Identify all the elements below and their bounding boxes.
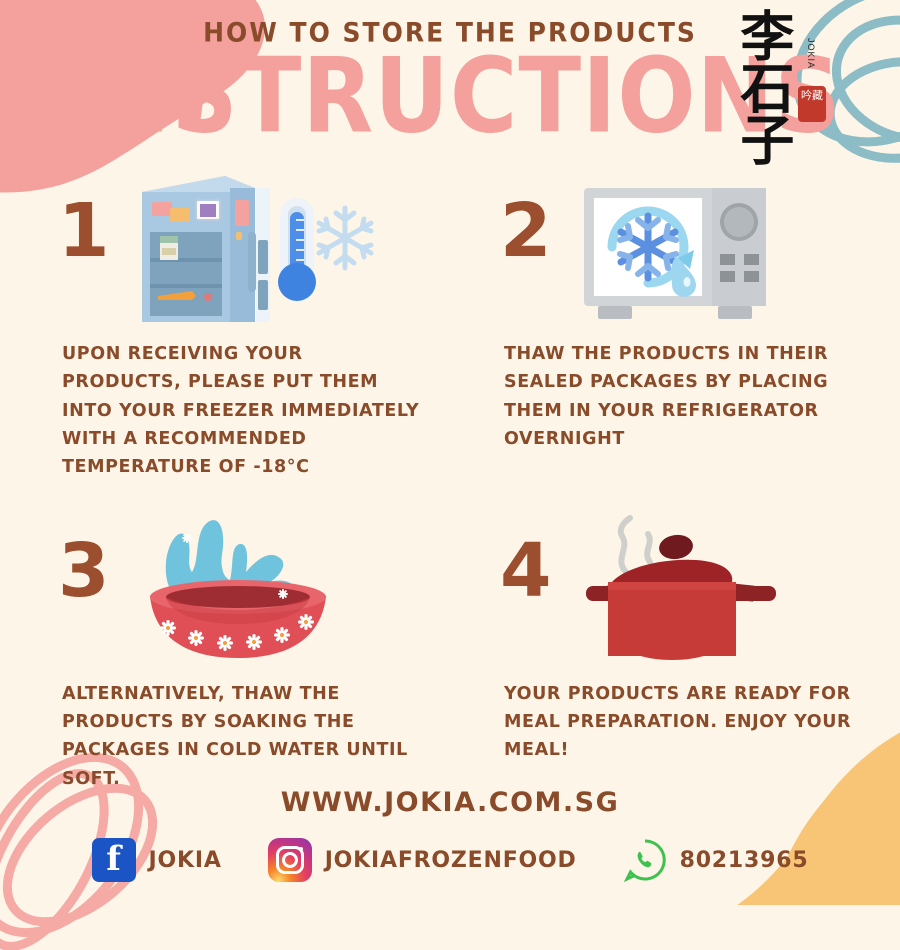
page-footer: WWW.JOKIA.COM.SG JOKIA JOKIAFROZENFOOD [0, 787, 900, 882]
facebook-handle: JOKIA [149, 848, 222, 873]
step-3-illustration [130, 510, 450, 670]
step-1-text: UPON RECEIVING YOUR PRODUCTS, PLEASE PUT… [0, 340, 450, 482]
step-2-text: THAW THE PRODUCTS IN THEIR SEALED PACKAG… [450, 340, 900, 453]
refrigerator-icon [130, 170, 380, 330]
step-1: 1 [0, 170, 450, 482]
step-4-illustration [572, 510, 900, 670]
step-3-number: 3 [58, 510, 130, 608]
step-3: 3 [0, 510, 450, 793]
step-3-text: ALTERNATIVELY, THAW THE PRODUCTS BY SOAK… [0, 680, 450, 793]
steps-row-2: 3 [0, 510, 900, 793]
instagram-icon[interactable] [268, 838, 312, 882]
step-4-number: 4 [500, 510, 572, 608]
instagram-lens [282, 852, 298, 868]
logo-seal-stamp: 吟藏 [798, 86, 826, 122]
brand-logo: 李石子 JOKIA 吟藏 [730, 8, 880, 173]
steps-grid: 1 [0, 170, 900, 793]
website-url[interactable]: WWW.JOKIA.COM.SG [0, 787, 900, 818]
step-4-header: 4 [450, 510, 900, 680]
step-2-illustration [572, 170, 900, 330]
step-2: 2 [450, 170, 900, 482]
step-1-illustration [130, 170, 450, 330]
facebook-icon[interactable] [92, 838, 136, 882]
bowl-water-splash-icon [130, 510, 345, 670]
social-links: JOKIA JOKIAFROZENFOOD 80213965 [0, 838, 900, 882]
logo-chinese-characters: 李石子 [736, 8, 789, 164]
infographic-canvas: HOW TO STORE THE PRODUCTS INSTRUCTIONS 李… [0, 0, 900, 900]
social-instagram[interactable]: JOKIAFROZENFOOD [268, 838, 577, 882]
step-2-number: 2 [500, 170, 572, 268]
steps-row-1: 1 [0, 170, 900, 482]
step-3-header: 3 [0, 510, 450, 680]
whatsapp-icon[interactable] [623, 838, 667, 882]
instagram-handle: JOKIAFROZENFOOD [325, 848, 577, 873]
step-1-header: 1 [0, 170, 450, 340]
microwave-defrost-icon [572, 170, 782, 330]
whatsapp-number: 80213965 [680, 848, 809, 873]
step-2-header: 2 [450, 170, 900, 340]
instagram-dot [299, 847, 303, 851]
cooking-pot-icon [572, 510, 787, 670]
logo-brand-name: JOKIA [806, 38, 816, 69]
social-facebook[interactable]: JOKIA [92, 838, 222, 882]
step-4-text: YOUR PRODUCTS ARE READY FOR MEAL PREPARA… [450, 680, 900, 765]
snowflake-icon [319, 208, 371, 268]
social-whatsapp[interactable]: 80213965 [623, 838, 809, 882]
step-4: 4 [450, 510, 900, 793]
step-1-number: 1 [58, 170, 130, 268]
